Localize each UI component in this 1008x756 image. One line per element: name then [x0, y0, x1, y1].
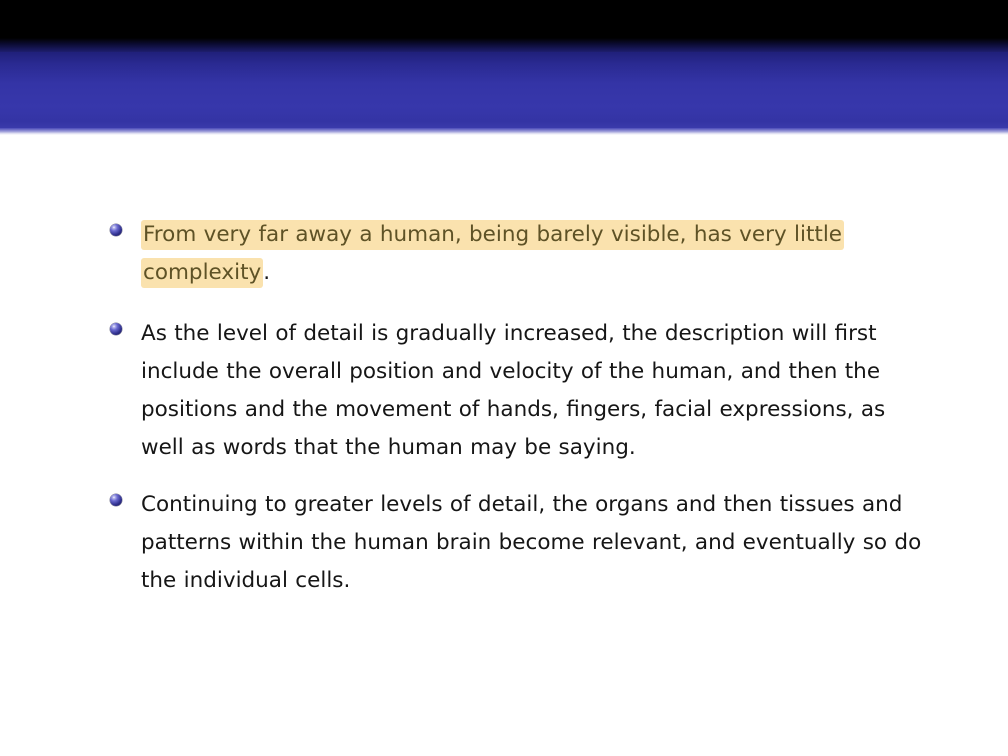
- list-item-text: From very far away a human, being barely…: [141, 216, 901, 292]
- slide-title-bar: Random, Coherent, Correlated systems (3/…: [0, 52, 1008, 128]
- top-black-band: [0, 0, 1008, 38]
- list-item-trailing-punctuation: .: [263, 260, 270, 285]
- presentation-slide: Random, Coherent, Correlated systems (3/…: [0, 0, 1008, 756]
- list-item: From very far away a human, being barely…: [0, 216, 1008, 292]
- title-bar-bottom-gradient: [0, 128, 1008, 135]
- sphere-bullet-icon: [110, 323, 122, 335]
- list-item-text: Continuing to greater levels of detail, …: [141, 486, 941, 600]
- sphere-bullet-icon: [110, 224, 122, 236]
- slide-body-bullet-list: From very far away a human, being barely…: [0, 216, 1008, 613]
- top-band-gradient: [0, 38, 1008, 52]
- list-item-text: As the level of detail is gradually incr…: [141, 315, 931, 467]
- highlighted-text: From very far away a human, being barely…: [141, 220, 844, 288]
- list-item: As the level of detail is gradually incr…: [0, 315, 1008, 467]
- list-item: Continuing to greater levels of detail, …: [0, 486, 1008, 600]
- sphere-bullet-icon: [110, 494, 122, 506]
